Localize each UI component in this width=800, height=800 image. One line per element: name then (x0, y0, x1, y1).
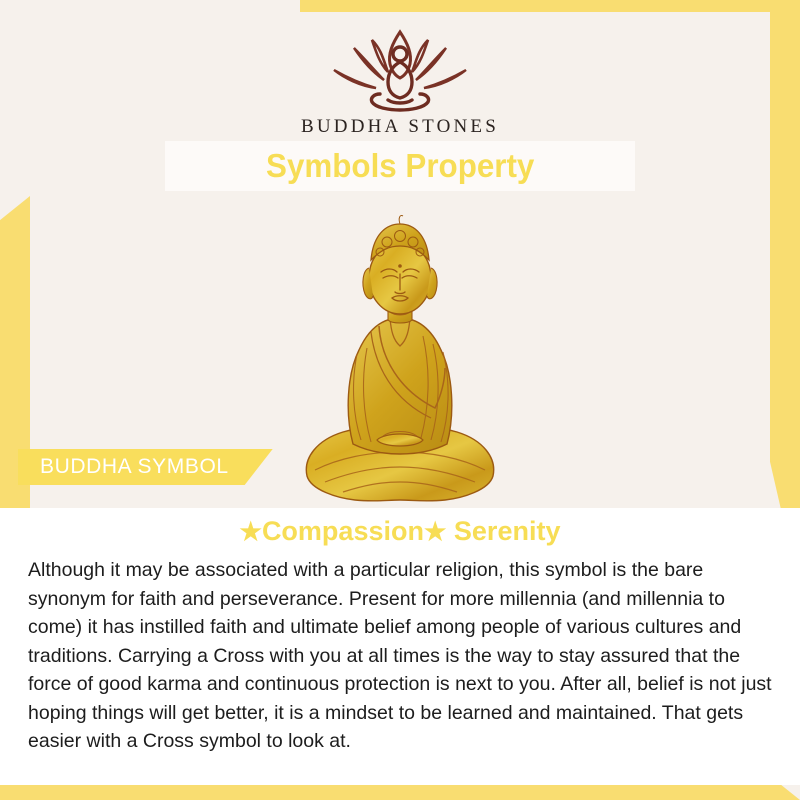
page-title: Symbols Property (266, 147, 534, 185)
keyword-compassion: Compassion (262, 516, 424, 546)
title-band: Symbols Property (165, 141, 635, 191)
decor-frame-top (300, 0, 800, 12)
description-paragraph: Although it may be associated with a par… (28, 556, 774, 756)
star-icon-2: ★ (424, 518, 446, 546)
buddha-symbol-tag: BUDDHA SYMBOL (18, 449, 273, 485)
decor-frame-bottom (0, 784, 800, 800)
star-icon-1: ★ (240, 518, 262, 546)
keyword-serenity: Serenity (454, 516, 561, 546)
brand-logo: BUDDHA STONES (0, 22, 800, 138)
tag-label: BUDDHA SYMBOL (40, 455, 229, 479)
keywords-line: ★Compassion★ Serenity (0, 516, 800, 547)
seated-buddha-statue (295, 208, 505, 508)
lotus-meditation-icon (310, 22, 490, 114)
poster-root: BUDDHA STONES Symbols Property (0, 0, 800, 800)
content-panel: ★Compassion★ Serenity Although it may be… (0, 508, 800, 785)
brand-wordmark: BUDDHA STONES (0, 116, 800, 138)
